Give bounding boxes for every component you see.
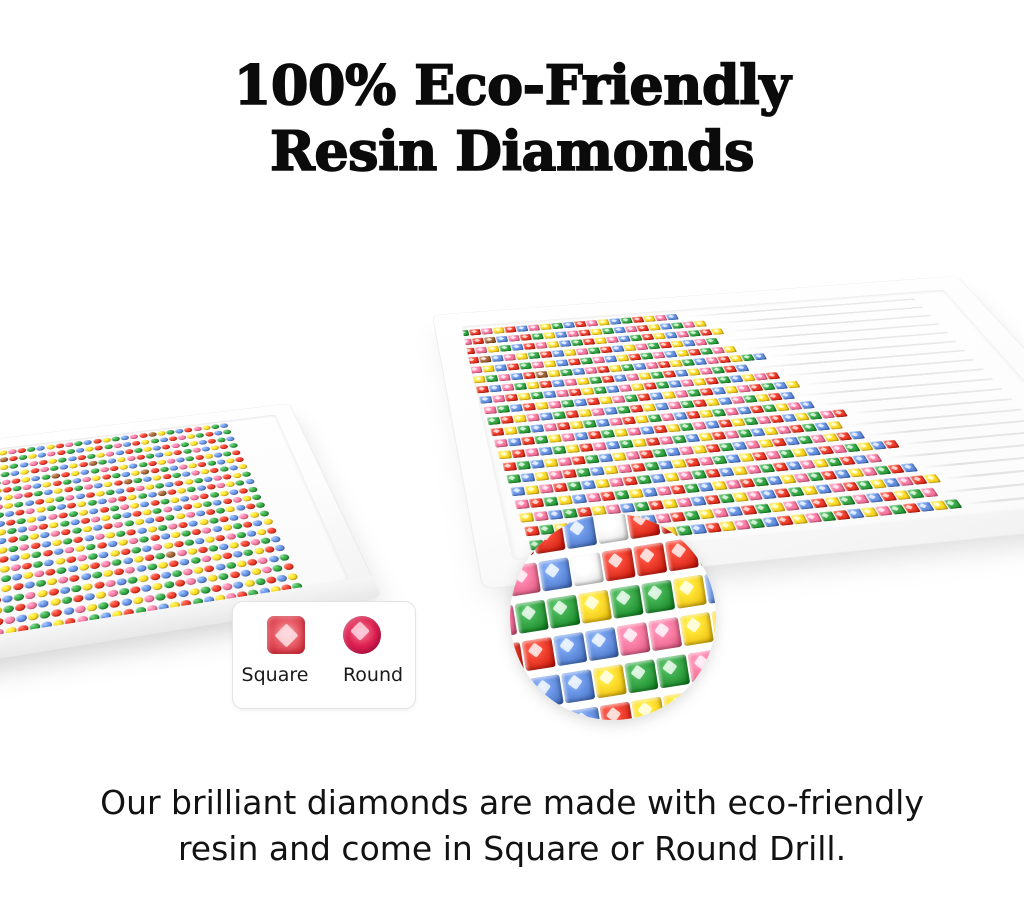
- round-drill-bead: [29, 461, 38, 467]
- bead-glint: [721, 469, 728, 473]
- square-drill-bead: [506, 363, 519, 370]
- round-drill-bead: [175, 513, 186, 520]
- bead-glint: [533, 334, 539, 337]
- square-drill-bead: [561, 433, 576, 442]
- square-drill-bead: [535, 402, 549, 410]
- round-drill-bead: [120, 435, 129, 441]
- round-drill-bead: [186, 434, 196, 440]
- square-drill-bead: [563, 349, 576, 356]
- round-drill-bead: [213, 452, 223, 458]
- round-drill-bead: [86, 603, 97, 612]
- magnified-square-drill: [514, 600, 548, 634]
- square-drill-bead: [511, 344, 524, 351]
- bead-glint: [570, 359, 576, 362]
- round-drill-bead: [56, 504, 66, 511]
- magnified-square-drill: [522, 637, 556, 671]
- bead-glint: [783, 393, 789, 397]
- round-drill-bead: [166, 591, 178, 599]
- round-drill-bead: [164, 481, 174, 487]
- bead-glint: [580, 410, 586, 414]
- round-drill-bead: [225, 561, 237, 569]
- round-drill-bead: [29, 533, 39, 540]
- round-drill-bead: [113, 521, 123, 528]
- bead-glint: [750, 492, 757, 497]
- bead-glint: [708, 422, 714, 426]
- magnifier-content: [510, 514, 716, 720]
- square-drill-bead: [491, 355, 504, 362]
- square-drill-bead: [529, 498, 544, 508]
- bead-glint: [599, 669, 614, 684]
- round-drill-bead: [147, 460, 157, 466]
- square-drill-bead: [555, 331, 568, 338]
- bead-glint: [755, 354, 761, 357]
- bead-glint: [910, 490, 917, 495]
- bead-glint: [493, 429, 500, 433]
- round-drill-bead: [157, 524, 168, 531]
- bead-glint: [701, 389, 707, 393]
- bead-glint: [787, 438, 793, 442]
- round-drill-bead: [134, 519, 144, 526]
- bead-glint: [569, 331, 575, 334]
- magnified-square-drill: [663, 691, 697, 720]
- round-drill-bead: [92, 524, 102, 531]
- bead-glint: [597, 480, 604, 484]
- bead-glint: [521, 363, 527, 366]
- bead-glint: [557, 332, 563, 335]
- square-drill-bead: [587, 431, 602, 440]
- round-drill-bead: [184, 539, 195, 546]
- bead-glint: [574, 369, 580, 372]
- round-drill-bead: [39, 459, 48, 465]
- round-drill-bead: [38, 600, 49, 609]
- bead-glint: [779, 427, 785, 431]
- bead-glint: [734, 443, 741, 447]
- round-drill-bead: [115, 450, 124, 456]
- square-drill-bead: [592, 442, 607, 451]
- square-drill-bead: [711, 328, 725, 335]
- bead-glint: [791, 488, 798, 493]
- square-drill-bead: [496, 405, 510, 413]
- tray-groove: [964, 489, 1024, 505]
- bead-glint: [484, 366, 490, 369]
- round-drill-bead: [136, 527, 147, 534]
- bead-glint: [753, 429, 759, 433]
- bead-glint: [920, 503, 927, 508]
- bead-glint: [886, 441, 892, 445]
- round-drill-bead: [47, 578, 58, 586]
- bead-glint: [541, 382, 547, 386]
- round-drill-bead: [71, 584, 82, 592]
- bead-glint: [644, 405, 650, 409]
- magnified-square-drill: [562, 515, 596, 549]
- bead-glint: [722, 495, 729, 500]
- bead-glint: [630, 664, 645, 679]
- bead-glint: [701, 458, 708, 462]
- bead-glint: [582, 358, 588, 361]
- square-drill-bead: [593, 386, 607, 394]
- round-drill-bead: [0, 457, 8, 463]
- round-drill-bead: [179, 558, 190, 566]
- bead-glint: [493, 356, 499, 359]
- bead-glint: [581, 330, 587, 333]
- bead-glint: [708, 445, 715, 449]
- round-drill-bead: [204, 565, 216, 573]
- round-drill-bead: [31, 475, 40, 481]
- bead-glint: [759, 417, 765, 421]
- square-drill-bead: [494, 439, 508, 448]
- round-drill-bead: [146, 563, 157, 571]
- square-drill-bead: [557, 457, 572, 466]
- round-drill-bead: [0, 575, 10, 583]
- bead-glint: [549, 342, 555, 345]
- round-drill-bead: [125, 566, 136, 574]
- bead-glint: [650, 325, 656, 328]
- bead-glint: [524, 404, 530, 408]
- round-drill-bead: [66, 555, 77, 563]
- bead-glint: [606, 707, 621, 720]
- round-drill-bead: [55, 443, 64, 449]
- round-drill-bead: [198, 518, 209, 525]
- bead-glint: [892, 506, 899, 511]
- bead-glint: [608, 553, 623, 568]
- round-drill-bead: [184, 427, 193, 432]
- round-drill-bead: [104, 444, 113, 450]
- bead-glint: [496, 365, 502, 368]
- magnified-square-drill: [510, 717, 539, 720]
- round-drill-bead: [228, 465, 238, 471]
- bead-glint: [623, 627, 638, 642]
- bead-glint: [627, 327, 633, 330]
- bead-glint: [835, 411, 841, 415]
- bead-glint: [708, 470, 715, 474]
- round-drill-bead: [152, 507, 162, 514]
- round-drill-bead: [207, 438, 217, 444]
- round-drill-bead: [255, 502, 266, 509]
- round-drill-bead: [132, 510, 142, 517]
- bead-glint: [673, 323, 679, 326]
- square-drill-icon: [267, 616, 305, 654]
- bead-glint: [599, 320, 605, 323]
- round-drill-icon: [343, 616, 381, 654]
- round-drill-bead: [265, 576, 277, 584]
- round-drill-bead: [141, 584, 152, 592]
- square-drill-bead: [516, 461, 531, 470]
- bead-glint: [726, 367, 732, 370]
- bead-glint: [509, 476, 516, 480]
- magnified-square-drill: [626, 514, 660, 539]
- square-drill-bead: [543, 423, 557, 431]
- round-drill-bead: [56, 566, 67, 574]
- bead-glint: [489, 347, 495, 350]
- round-drill-bead: [88, 552, 99, 560]
- round-drill-bead: [122, 557, 133, 565]
- bead-glint: [545, 361, 551, 364]
- round-drill-bead: [74, 485, 84, 491]
- round-drill-bead: [254, 577, 266, 585]
- round-drill-bead: [58, 576, 69, 584]
- bead-glint: [846, 483, 853, 488]
- round-drill-bead: [155, 552, 166, 560]
- round-drill-bead: [159, 437, 168, 443]
- round-drill-bead: [84, 593, 95, 602]
- round-drill-bead: [96, 591, 107, 599]
- tray-groove: [921, 453, 1024, 469]
- bead-glint: [550, 435, 557, 439]
- round-drill-bead: [117, 457, 127, 463]
- bead-glint: [657, 316, 663, 319]
- square-drill-bead: [472, 338, 484, 345]
- round-drill-bead: [143, 446, 153, 452]
- bead-glint: [727, 432, 733, 436]
- round-drill-bead: [14, 501, 24, 508]
- square-drill-bead: [598, 453, 613, 462]
- round-drill-bead: [152, 582, 163, 590]
- round-drill-bead: [26, 601, 37, 610]
- bead-glint: [545, 333, 551, 336]
- bead-glint: [662, 324, 668, 327]
- bead-glint: [783, 476, 790, 480]
- bead-glint: [713, 329, 719, 332]
- round-drill-bead: [48, 588, 59, 596]
- round-drill-bead: [182, 568, 193, 576]
- bead-glint: [766, 428, 772, 432]
- bead-glint: [509, 364, 515, 367]
- round-drill-bead: [155, 516, 166, 523]
- round-drill-bead: [243, 549, 255, 557]
- round-drill-bead: [124, 449, 133, 455]
- bead-glint: [502, 417, 508, 421]
- square-drill-bead: [560, 400, 574, 408]
- round-drill-bead: [26, 508, 36, 515]
- bead-glint: [785, 502, 792, 507]
- round-drill-bead: [252, 520, 263, 527]
- round-drill-bead: [53, 548, 63, 556]
- round-drill-bead: [206, 484, 216, 490]
- square-drill-bead: [595, 479, 611, 489]
- bead-glint: [630, 355, 636, 358]
- bead-glint: [794, 516, 801, 521]
- bead-glint: [609, 337, 615, 340]
- square-drill-bead: [510, 373, 523, 381]
- round-drill-bead: [166, 458, 176, 464]
- round-drill-bead: [5, 511, 15, 518]
- bead-glint: [533, 362, 539, 365]
- round-drill-bead: [222, 498, 233, 505]
- bead-glint: [732, 376, 738, 380]
- bead-glint: [613, 346, 619, 349]
- bead-glint: [619, 407, 625, 411]
- square-drill-bead: [630, 463, 646, 472]
- bead-glint: [645, 317, 651, 320]
- round-drill-bead: [77, 554, 88, 562]
- bead-glint: [560, 497, 567, 502]
- square-drill-bead: [483, 406, 497, 414]
- bead-glint: [622, 441, 629, 445]
- bead-glint: [530, 325, 536, 328]
- bead-glint: [599, 367, 605, 370]
- bead-glint: [746, 418, 752, 422]
- bead-glint: [656, 426, 662, 430]
- round-drill-bead: [50, 465, 59, 471]
- round-drill-bead: [48, 513, 58, 520]
- tray-groove: [940, 477, 1024, 493]
- round-drill-bead: [126, 529, 137, 536]
- round-drill-bead: [0, 450, 7, 456]
- round-drill-bead: [200, 555, 211, 563]
- square-drill-bead: [534, 435, 548, 444]
- bead-glint: [675, 436, 682, 440]
- bead-glint: [657, 404, 663, 408]
- round-drill-bead: [105, 451, 114, 457]
- square-drill-bead: [543, 458, 558, 467]
- round-drill-bead: [36, 506, 46, 513]
- round-drill-bead: [51, 608, 62, 617]
- round-drill-bead: [52, 539, 62, 546]
- bead-glint: [634, 317, 640, 320]
- square-drill-bead: [551, 379, 565, 387]
- bead-glint: [579, 379, 585, 383]
- bead-glint: [736, 494, 743, 499]
- square-drill-bead: [562, 322, 575, 329]
- bead-glint: [537, 525, 552, 540]
- bead-glint: [583, 389, 589, 393]
- round-drill-bead: [238, 487, 249, 493]
- bead-glint: [883, 493, 890, 498]
- round-drill-bead: [141, 439, 150, 445]
- round-drill-bead: [86, 543, 97, 551]
- round-drill-bead: [196, 576, 208, 584]
- round-drill-bead: [111, 513, 121, 520]
- bead-glint: [729, 508, 736, 513]
- bead-glint: [635, 364, 641, 367]
- round-drill-bead: [177, 435, 187, 441]
- bead-glint: [588, 399, 594, 403]
- round-drill-bead: [191, 528, 202, 535]
- bead-glint: [896, 492, 903, 497]
- bead-glint: [891, 466, 898, 470]
- round-drill-bead: [195, 510, 206, 517]
- round-drill-bead: [20, 469, 29, 475]
- round-drill-bead: [61, 529, 71, 536]
- round-drill-bead: [248, 486, 259, 492]
- square-drill-bead: [553, 483, 568, 493]
- round-drill-bead: [205, 509, 216, 516]
- round-drill-bead: [218, 516, 229, 523]
- square-drill-bead: [598, 396, 612, 404]
- bead-glint: [643, 427, 649, 431]
- bead-glint: [472, 367, 478, 370]
- square-drill-bead: [581, 387, 595, 395]
- round-drill-bead: [206, 460, 216, 466]
- square-drill-bead: [582, 420, 597, 428]
- round-drill-bead: [219, 444, 229, 450]
- bead-glint: [505, 355, 511, 358]
- bead-glint: [471, 330, 477, 333]
- bead-glint: [702, 330, 708, 333]
- square-drill-bead: [547, 370, 560, 377]
- round-drill-bead: [22, 562, 32, 570]
- bead-glint: [560, 637, 575, 652]
- bead-glint: [677, 371, 683, 374]
- square-drill-bead: [506, 474, 521, 484]
- bead-glint: [671, 543, 686, 558]
- bead-glint: [545, 563, 560, 578]
- round-drill-bead: [1, 479, 10, 485]
- round-drill-bead: [209, 491, 220, 498]
- bead-glint: [541, 414, 547, 418]
- round-drill-bead: [80, 469, 89, 475]
- bead-glint: [690, 350, 696, 353]
- square-drill-bead: [608, 477, 624, 487]
- round-drill-bead: [80, 573, 91, 581]
- round-drill-bead: [118, 588, 129, 596]
- bead-glint: [537, 372, 543, 375]
- square-drill-bead: [504, 426, 518, 435]
- round-drill-bead: [198, 439, 208, 445]
- square-drill-bead: [552, 411, 566, 419]
- bead-glint: [694, 498, 701, 503]
- round-drill-bead: [70, 470, 79, 476]
- square-drill-bead: [492, 327, 504, 334]
- square-drill-bead: [566, 444, 581, 453]
- square-drill-bead: [539, 484, 554, 494]
- round-drill-bead: [45, 497, 55, 504]
- bead-glint: [633, 384, 639, 388]
- round-drill-bead: [225, 458, 235, 464]
- bead-glint: [708, 339, 714, 342]
- square-drill-bead: [513, 414, 527, 422]
- bead-glint: [566, 380, 572, 384]
- round-drill-bead: [134, 447, 143, 453]
- bead-glint: [770, 477, 777, 481]
- product-caption: Our brilliant diamonds are made with eco…: [42, 780, 982, 872]
- legend-labels: Square Round: [233, 664, 415, 686]
- bead-glint: [654, 622, 669, 637]
- bead-glint: [554, 412, 560, 416]
- round-drill-bead: [0, 512, 4, 519]
- round-drill-bead: [25, 591, 36, 599]
- round-drill-bead: [287, 572, 299, 580]
- round-drill-bead: [215, 507, 226, 514]
- bead-glint: [601, 347, 607, 350]
- legend-label-square: Square: [237, 664, 313, 686]
- round-drill-bead: [216, 459, 226, 465]
- tray-groove: [798, 378, 993, 396]
- round-drill-bead: [180, 442, 190, 448]
- round-drill-bead: [63, 537, 73, 544]
- bead-glint: [585, 421, 591, 425]
- bead-glint: [517, 501, 524, 506]
- bead-glint: [619, 465, 626, 469]
- bead-glint: [696, 322, 702, 325]
- round-drill-bead: [131, 441, 140, 447]
- round-drill-bead: [96, 542, 107, 550]
- square-drill-bead: [576, 377, 590, 385]
- bead-glint: [805, 425, 811, 429]
- bead-glint: [486, 338, 492, 341]
- round-drill-bead: [22, 484, 31, 490]
- square-drill-bead: [516, 325, 529, 332]
- round-drill-bead: [249, 538, 260, 545]
- square-drill-bead: [616, 354, 630, 361]
- round-drill-bead: [182, 448, 192, 454]
- square-drill-bead: [530, 460, 545, 469]
- bead-glint: [541, 448, 548, 452]
- bead-glint: [618, 356, 624, 359]
- square-drill-bead: [556, 389, 570, 397]
- round-drill-bead: [203, 476, 213, 482]
- round-drill-bead: [235, 505, 246, 512]
